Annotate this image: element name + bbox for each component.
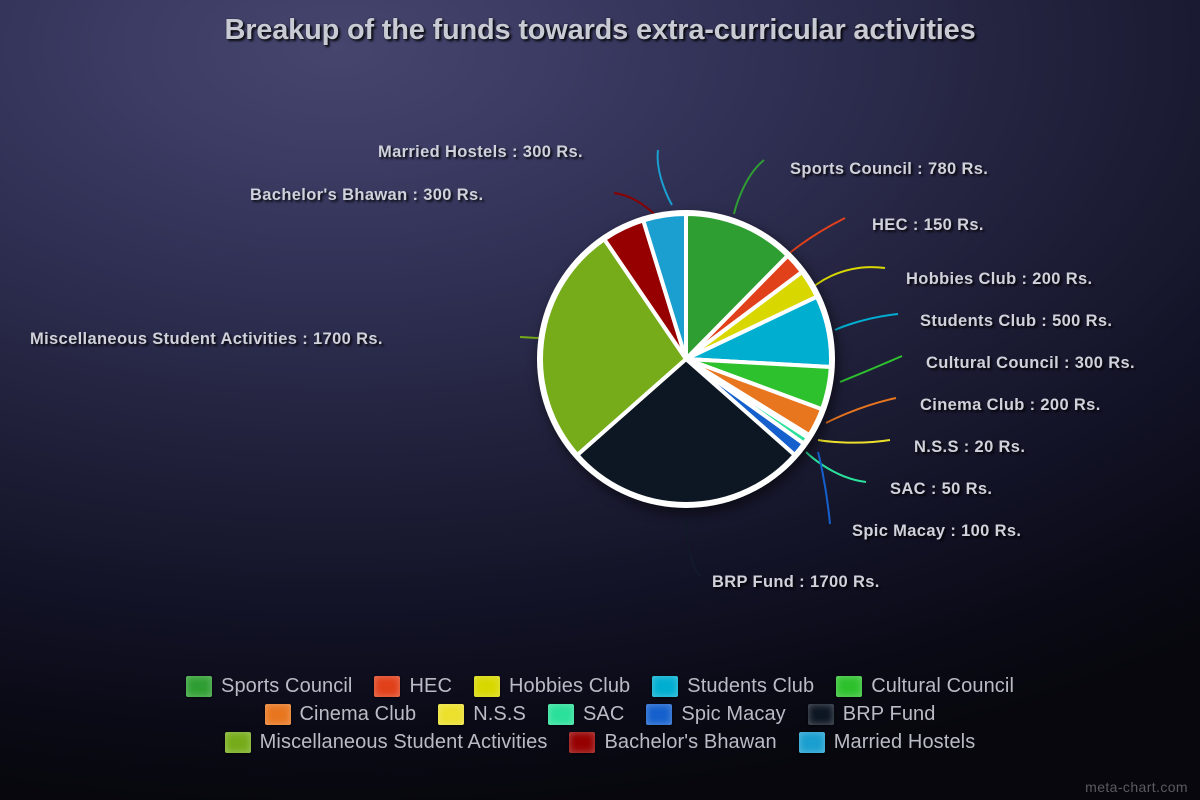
callout-hec: HEC : 150 Rs. <box>872 216 984 235</box>
legend-label-bachelor-s-bhawan: Bachelor's Bhawan <box>604 732 776 752</box>
legend-label-cultural-council: Cultural Council <box>871 676 1014 696</box>
callout-cultural-council: Cultural Council : 300 Rs. <box>926 354 1135 373</box>
legend-item-miscellaneous-student-activities[interactable]: Miscellaneous Student Activities <box>225 732 548 753</box>
legend-swatch-married-hostels <box>799 732 825 753</box>
legend-label-spic-macay: Spic Macay <box>681 704 785 724</box>
callout-sac: SAC : 50 Rs. <box>890 480 992 499</box>
callout-nss: N.S.S : 20 Rs. <box>914 438 1025 457</box>
legend-row: Sports CouncilHECHobbies ClubStudents Cl… <box>0 672 1200 700</box>
legend-item-sac[interactable]: SAC <box>548 704 624 725</box>
legend-label-hobbies-club: Hobbies Club <box>509 676 630 696</box>
leader-line-brp-fund <box>686 520 700 576</box>
legend-row: Miscellaneous Student ActivitiesBachelor… <box>0 728 1200 756</box>
legend-swatch-n-s-s <box>438 704 464 725</box>
legend-item-brp-fund[interactable]: BRP Fund <box>808 704 936 725</box>
legend-swatch-cinema-club <box>265 704 291 725</box>
callout-spic-macay: Spic Macay : 100 Rs. <box>852 522 1021 541</box>
legend-swatch-spic-macay <box>646 704 672 725</box>
callout-married-hostels: Married Hostels : 300 Rs. <box>378 143 583 162</box>
legend-item-married-hostels[interactable]: Married Hostels <box>799 732 976 753</box>
legend-row: Cinema ClubN.S.SSACSpic MacayBRP Fund <box>0 700 1200 728</box>
chart-canvas: Breakup of the funds towards extra-curri… <box>0 0 1200 800</box>
legend-item-cinema-club[interactable]: Cinema Club <box>265 704 417 725</box>
legend-label-married-hostels: Married Hostels <box>834 732 976 752</box>
legend-label-brp-fund: BRP Fund <box>843 704 936 724</box>
legend-label-cinema-club: Cinema Club <box>300 704 417 724</box>
callout-cinema-club: Cinema Club : 200 Rs. <box>920 396 1101 415</box>
legend-item-spic-macay[interactable]: Spic Macay <box>646 704 785 725</box>
callout-hobbies-club: Hobbies Club : 200 Rs. <box>906 270 1093 289</box>
legend-swatch-hec <box>374 676 400 697</box>
legend-item-bachelor-s-bhawan[interactable]: Bachelor's Bhawan <box>569 732 776 753</box>
callout-brp-fund: BRP Fund : 1700 Rs. <box>712 573 880 592</box>
legend: Sports CouncilHECHobbies ClubStudents Cl… <box>0 672 1200 756</box>
legend-item-students-club[interactable]: Students Club <box>652 676 814 697</box>
legend-swatch-students-club <box>652 676 678 697</box>
legend-label-hec: HEC <box>409 676 452 696</box>
callout-sports-council: Sports Council : 780 Rs. <box>790 160 988 179</box>
legend-label-miscellaneous-student-activities: Miscellaneous Student Activities <box>260 732 548 752</box>
pie-slices[interactable] <box>538 196 858 526</box>
legend-label-students-club: Students Club <box>687 676 814 696</box>
legend-swatch-sports-council <box>186 676 212 697</box>
legend-swatch-brp-fund <box>808 704 834 725</box>
legend-label-sports-council: Sports Council <box>221 676 352 696</box>
legend-item-n-s-s[interactable]: N.S.S <box>438 704 526 725</box>
callout-bachelors-bhawan: Bachelor's Bhawan : 300 Rs. <box>250 186 483 205</box>
legend-swatch-miscellaneous-student-activities <box>225 732 251 753</box>
legend-swatch-sac <box>548 704 574 725</box>
chart-title: Breakup of the funds towards extra-curri… <box>0 14 1200 47</box>
legend-item-sports-council[interactable]: Sports Council <box>186 676 352 697</box>
legend-label-n-s-s: N.S.S <box>473 704 526 724</box>
legend-swatch-bachelor-s-bhawan <box>569 732 595 753</box>
legend-item-hec[interactable]: HEC <box>374 676 452 697</box>
legend-swatch-hobbies-club <box>474 676 500 697</box>
legend-label-sac: SAC <box>583 704 624 724</box>
legend-item-cultural-council[interactable]: Cultural Council <box>836 676 1014 697</box>
legend-item-hobbies-club[interactable]: Hobbies Club <box>474 676 630 697</box>
watermark: meta-chart.com <box>1085 779 1188 795</box>
callout-miscellaneous-student-activities: Miscellaneous Student Activities : 1700 … <box>30 330 383 349</box>
callout-students-club: Students Club : 500 Rs. <box>920 312 1112 331</box>
legend-swatch-cultural-council <box>836 676 862 697</box>
pie-chart <box>538 196 858 526</box>
